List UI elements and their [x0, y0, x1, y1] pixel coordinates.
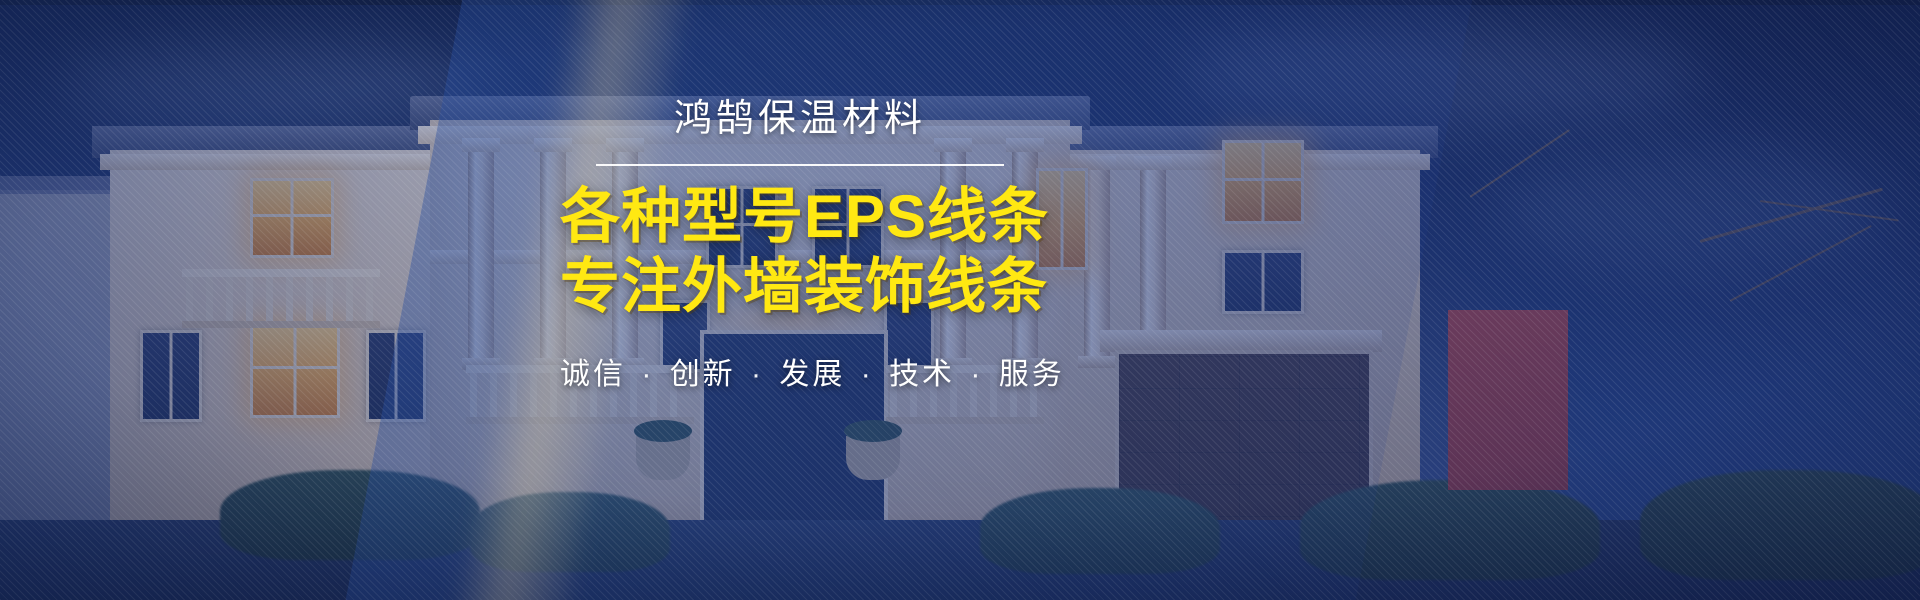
headline-line-1: 各种型号EPS线条: [560, 182, 1040, 253]
headline-line-2: 专注外墙装饰线条: [560, 252, 1040, 323]
hero-banner: 鸿鹄保温材料 各种型号EPS线条 专注外墙装饰线条 诚信 · 创新 · 发展 ·…: [0, 0, 1920, 600]
tagline-item-1: 诚信: [560, 358, 626, 391]
tagline-item-4: 技术: [889, 358, 955, 391]
brand-name: 鸿鹄保温材料: [560, 96, 1040, 144]
tagline-separator-icon: ·: [637, 358, 658, 391]
tagline-separator-icon: ·: [966, 358, 987, 391]
tagline-separator-icon: ·: [857, 358, 878, 391]
tagline-separator-icon: ·: [747, 358, 768, 391]
tagline-item-3: 发展: [779, 358, 845, 391]
divider-rule: [596, 164, 1004, 166]
tagline-item-2: 创新: [670, 358, 736, 391]
tagline-item-5: 服务: [999, 358, 1065, 391]
tagline: 诚信 · 创新 · 发展 · 技术 · 服务: [560, 349, 1040, 393]
hero-copy-block: 鸿鹄保温材料 各种型号EPS线条 专注外墙装饰线条 诚信 · 创新 · 发展 ·…: [560, 96, 1040, 393]
